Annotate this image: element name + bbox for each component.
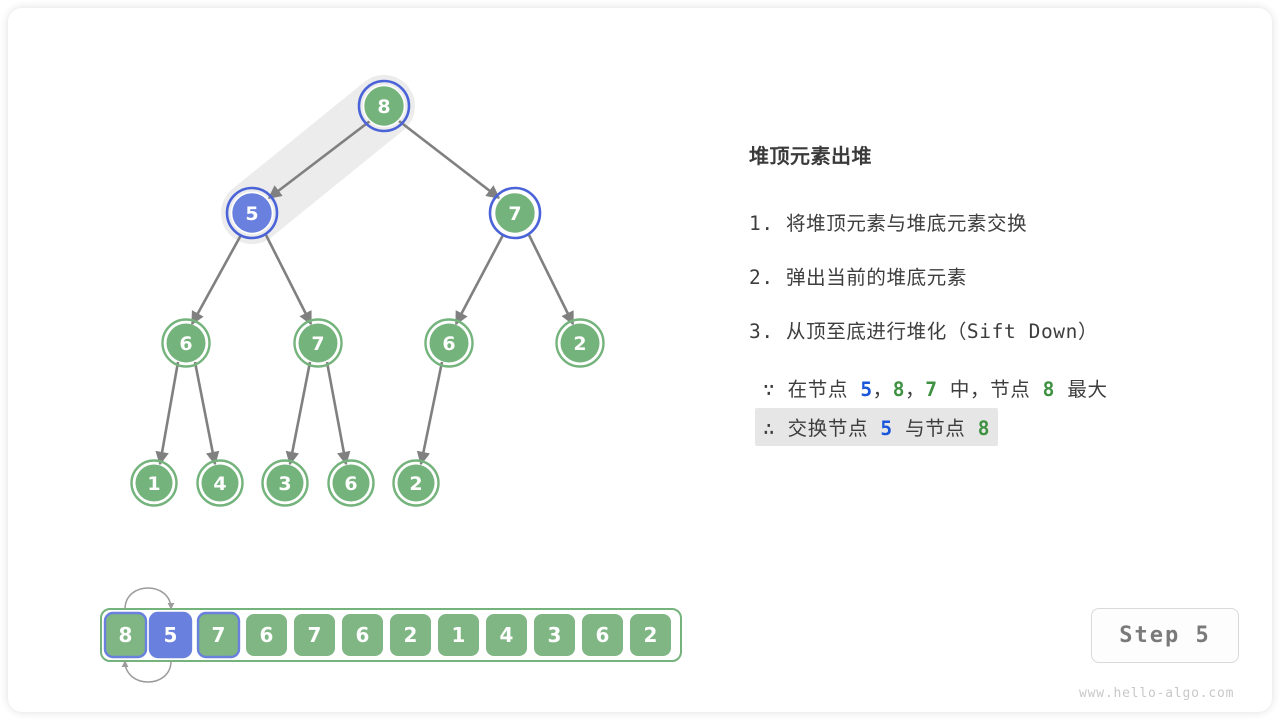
conclusion-value-5: 5: [880, 417, 892, 440]
conclusion-mid: 与节点: [893, 417, 978, 440]
edge-2-6: [529, 235, 573, 324]
tree-node-6c[interactable]: 6: [426, 320, 473, 367]
node-label: 7: [311, 333, 324, 355]
node-label: 2: [573, 333, 586, 355]
tree-node-8-root[interactable]: 8: [359, 81, 409, 131]
reason-line: ∵ 在节点 5，8，7 中，节点 8 最大: [755, 369, 1116, 407]
tree-edges: [160, 121, 573, 464]
edge-5-11: [421, 362, 442, 464]
array-cell-label: 6: [356, 623, 370, 647]
reason-prefix: ∵ 在节点: [763, 378, 860, 401]
conclusion-line: ∴ 交换节点 5 与节点 8: [755, 408, 998, 446]
tree-node-1[interactable]: 1: [132, 461, 177, 506]
array-cell-label: 1: [452, 623, 466, 647]
edge-0-2: [399, 121, 499, 198]
conclusion-value-8: 8: [978, 417, 990, 440]
array-cell-label: 8: [119, 623, 133, 647]
array-cell-0[interactable]: 8: [105, 613, 146, 657]
node-label: 5: [245, 203, 258, 225]
node-label: 2: [409, 473, 422, 495]
reason-value-7: 7: [925, 378, 937, 401]
array-cell-label: 6: [260, 623, 274, 647]
tree-node-4[interactable]: 4: [198, 461, 243, 506]
array-cell-10[interactable]: 6: [582, 614, 623, 656]
edge-3-8: [195, 362, 215, 464]
conclusion-prefix: ∴ 交换节点: [763, 417, 880, 440]
reason-value-8a: 8: [893, 378, 905, 401]
array-cell-7[interactable]: 1: [438, 614, 479, 656]
array-cell-6[interactable]: 2: [390, 614, 431, 656]
edge-4-9: [290, 362, 310, 464]
reason-value-8b: 8: [1043, 378, 1055, 401]
reason-sep-1: ，: [873, 378, 893, 401]
watermark: www.hello-algo.com: [1079, 686, 1234, 701]
node-label: 6: [442, 333, 455, 355]
tree-node-3[interactable]: 3: [263, 461, 308, 506]
array-cell-3[interactable]: 6: [246, 614, 287, 656]
tree-node-5-selected[interactable]: 5: [227, 188, 277, 238]
page-title: 堆顶元素出堆: [749, 140, 1219, 169]
array-cell-8[interactable]: 4: [486, 614, 527, 656]
tree-node-6b[interactable]: 6: [329, 461, 374, 506]
edge-2-5: [456, 235, 503, 324]
edge-4-10: [327, 362, 346, 464]
array-cell-label: 3: [548, 623, 562, 647]
array-cell-2[interactable]: 7: [198, 613, 239, 657]
edge-1-3: [192, 235, 241, 324]
edge-3-7: [160, 362, 178, 464]
edge-1-4: [266, 235, 311, 324]
slide-card: 1 4 3 6 2 6 7: [8, 8, 1272, 712]
array-cell-label: 4: [500, 623, 514, 647]
tree-node-7b[interactable]: 7: [295, 320, 342, 367]
node-label: 7: [508, 203, 521, 225]
array-cell-9[interactable]: 3: [534, 614, 575, 656]
tree-node-2c[interactable]: 2: [557, 320, 604, 367]
conclusion-line-wrap: ∴ 交换节点 5 与节点 8: [755, 408, 1219, 446]
explanation-panel: 堆顶元素出堆 1. 将堆顶元素与堆底元素交换 2. 弹出当前的堆底元素 3. 从…: [749, 140, 1219, 446]
node-label: 6: [344, 473, 357, 495]
tree-node-6[interactable]: 6: [163, 320, 210, 367]
array-cell-label: 6: [596, 623, 610, 647]
swap-arc-bottom: [125, 661, 171, 682]
tree-node-2b[interactable]: 2: [394, 461, 439, 506]
array-cell-label: 2: [404, 623, 418, 647]
array-cell-1[interactable]: 5: [150, 613, 191, 657]
array-cell-4[interactable]: 7: [294, 614, 335, 656]
node-label: 4: [213, 473, 226, 495]
step-item-3: 3. 从顶至底进行堆化（Sift Down）: [749, 315, 1219, 344]
swap-arc-top: [125, 588, 171, 609]
node-label: 1: [147, 473, 160, 495]
reason-sep-2: ，: [905, 378, 925, 401]
reason-mid: 中，节点: [938, 378, 1043, 401]
reason-suffix: 最大: [1055, 378, 1108, 401]
array-cell-label: 2: [644, 623, 658, 647]
step-item-2: 2. 弹出当前的堆底元素: [749, 261, 1219, 290]
node-label: 3: [278, 473, 291, 495]
step-badge: Step 5: [1091, 608, 1239, 663]
array-cell-label: 7: [212, 623, 226, 647]
reason-line-wrap: ∵ 在节点 5，8，7 中，节点 8 最大: [755, 369, 1219, 407]
tree-node-7-compared[interactable]: 7: [490, 188, 540, 238]
array-cell-label: 7: [308, 623, 322, 647]
step-item-1: 1. 将堆顶元素与堆底元素交换: [749, 207, 1219, 236]
array-cell-5[interactable]: 6: [342, 614, 383, 656]
node-label: 8: [377, 96, 390, 118]
array-cell-11[interactable]: 2: [630, 614, 671, 656]
reason-value-5: 5: [860, 378, 872, 401]
node-label: 6: [179, 333, 192, 355]
array-cell-label: 5: [164, 623, 178, 647]
